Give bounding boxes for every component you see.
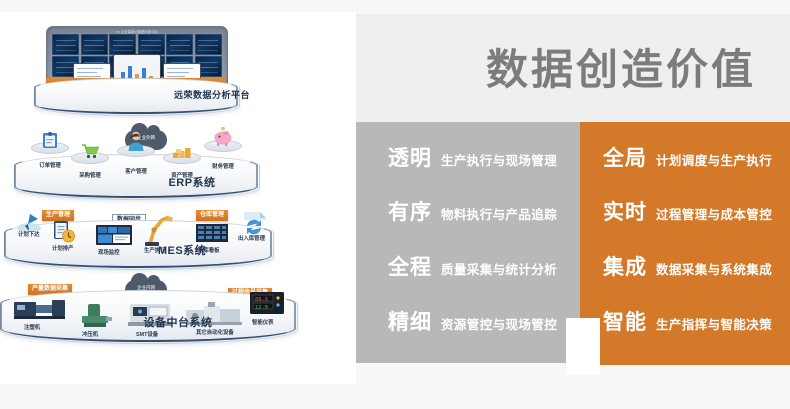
value-desc: 过程管理与成本管控 xyxy=(656,204,772,223)
clipboard-icon xyxy=(42,131,58,149)
screen-cell xyxy=(109,34,136,55)
mes-node-label: 出入库管理 xyxy=(238,234,265,242)
value-desc: 质量采集与统计分析 xyxy=(441,259,557,278)
schedule-clock-icon xyxy=(52,220,76,244)
inbound-outbound-icon xyxy=(240,210,268,236)
device-node-label: 冲压机 xyxy=(82,330,98,338)
value-row: 全程 质量采集与统计分析 xyxy=(388,251,557,281)
value-keyword: 有序 xyxy=(388,196,432,226)
svg-text:12.5: 12.5 xyxy=(255,304,268,310)
shopping-cart-icon xyxy=(81,144,99,159)
right-value-rows: 全局 计划调度与生产执行 实时 过程管理与成本管控 集成 数据采集与系统集成 智… xyxy=(580,122,790,363)
value-row: 精细 资源管控与现场管控 xyxy=(388,306,557,336)
svg-text:88.8: 88.8 xyxy=(255,296,268,302)
screen-cell xyxy=(52,34,79,55)
value-row: 透明 生产执行与现场管理 xyxy=(388,142,557,172)
value-keyword: 透明 xyxy=(388,142,432,172)
pyramid-diagram: ×× 企业智能大数据分析中心 xyxy=(0,12,356,384)
value-row: 有序 物料执行与产品追踪 xyxy=(388,196,557,226)
value-desc: 资源管控与现场管控 xyxy=(441,314,557,333)
gold-bars-icon xyxy=(172,144,192,159)
page-title: 数据创造价值 xyxy=(356,44,756,96)
screen-cell xyxy=(138,34,165,55)
value-desc: 计划调度与生产执行 xyxy=(656,150,772,169)
value-row: 智能 生产指挥与智能决策 xyxy=(603,306,772,336)
page-root: ×× 企业智能大数据分析中心 xyxy=(0,0,790,409)
erp-node-purchase: 采购管理 xyxy=(66,152,114,164)
value-row: 全局 计划调度与生产执行 xyxy=(603,142,772,172)
value-keyword: 实时 xyxy=(603,196,647,226)
screen-cell xyxy=(81,34,108,55)
screen-cell xyxy=(195,34,222,55)
cloud-label-device: 企业内网 xyxy=(125,285,167,291)
value-desc: 物料执行与产品追踪 xyxy=(441,204,557,223)
tier3-label: MES系统 xyxy=(4,242,360,258)
mes-tag-warehouse: 仓库管理 xyxy=(196,210,228,221)
value-keyword: 集成 xyxy=(603,251,647,281)
piggy-bank-icon xyxy=(212,127,234,147)
white-notch-block xyxy=(566,318,600,375)
erp-node-customer: 客户管理 xyxy=(110,145,162,157)
value-desc: 生产执行与现场管理 xyxy=(441,150,557,169)
erp-node-finance: 财务管理 xyxy=(198,140,248,152)
erp-node-label: 财务管理 xyxy=(198,162,248,170)
value-row: 实时 过程管理与成本管控 xyxy=(603,196,772,226)
left-value-rows: 透明 生产执行与现场管理 有序 物料执行与产品追踪 全程 质量采集与统计分析 精… xyxy=(356,122,580,363)
value-row: 集成 数据采集与系统集成 xyxy=(603,251,772,281)
screen-cell xyxy=(166,34,193,55)
tier4-label: 设备中台系统 xyxy=(0,314,356,330)
value-desc: 数据采集与系统集成 xyxy=(656,259,772,278)
value-keyword: 全局 xyxy=(603,142,647,172)
mes-node-label: 计划下达 xyxy=(18,230,40,238)
tier1-label: 远荣数据分析平台 xyxy=(34,88,390,101)
value-keyword: 智能 xyxy=(603,306,647,336)
value-desc: 生产指挥与智能决策 xyxy=(656,314,772,333)
value-keyword: 精细 xyxy=(388,306,432,336)
value-keyword: 全程 xyxy=(388,251,432,281)
device-node-label: SMT设备 xyxy=(136,330,158,338)
person-icon xyxy=(126,130,146,152)
tier2-label: ERP系统 xyxy=(14,174,370,190)
cloud-label-erp: 企业外网 xyxy=(125,135,167,141)
